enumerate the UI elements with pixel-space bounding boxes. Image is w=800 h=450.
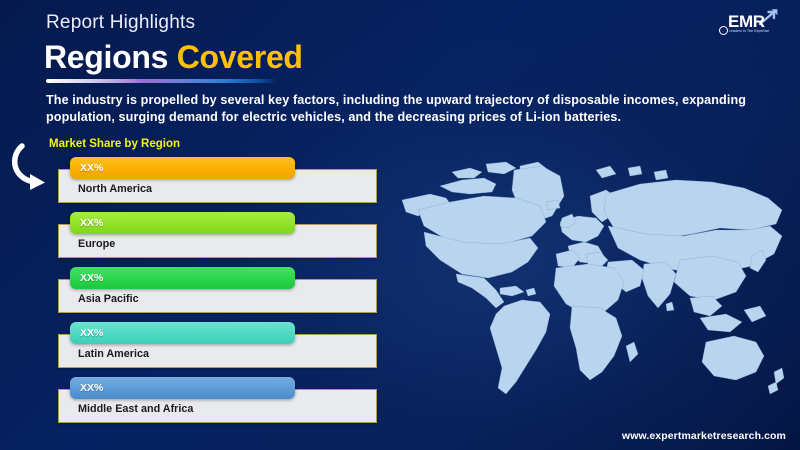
value-label: XX% [80, 162, 103, 174]
value-label: XX% [80, 217, 103, 229]
value-chip[interactable]: XX% [70, 212, 295, 234]
region-name: North America [78, 183, 152, 195]
website-url: www.expertmarketresearch.com [622, 430, 786, 442]
logo-tagline: Leaders In The Expertise [729, 29, 769, 33]
value-chip[interactable]: XX% [70, 157, 295, 179]
value-chip[interactable]: XX% [70, 267, 295, 289]
world-map [400, 150, 800, 412]
region-name: Asia Pacific [78, 293, 139, 305]
chart-row[interactable]: XX% North America [58, 157, 377, 203]
region-bar-chart: XX% North America XX% Europe XX% Asia Pa… [0, 0, 400, 450]
chart-row[interactable]: XX% Middle East and Africa [58, 377, 377, 423]
region-name: Latin America [78, 348, 149, 360]
chart-row[interactable]: XX% Asia Pacific [58, 267, 377, 313]
value-chip[interactable]: XX% [70, 322, 295, 344]
value-label: XX% [80, 327, 103, 339]
value-label: XX% [80, 382, 103, 394]
chart-row[interactable]: XX% Latin America [58, 322, 377, 368]
circle-icon [719, 26, 728, 35]
region-name: Europe [78, 238, 115, 250]
chart-row[interactable]: XX% Europe [58, 212, 377, 258]
value-chip[interactable]: XX% [70, 377, 295, 399]
region-name: Middle East and Africa [78, 403, 193, 415]
value-label: XX% [80, 272, 103, 284]
emr-logo[interactable]: EMR Leaders In The Expertise [714, 6, 792, 40]
